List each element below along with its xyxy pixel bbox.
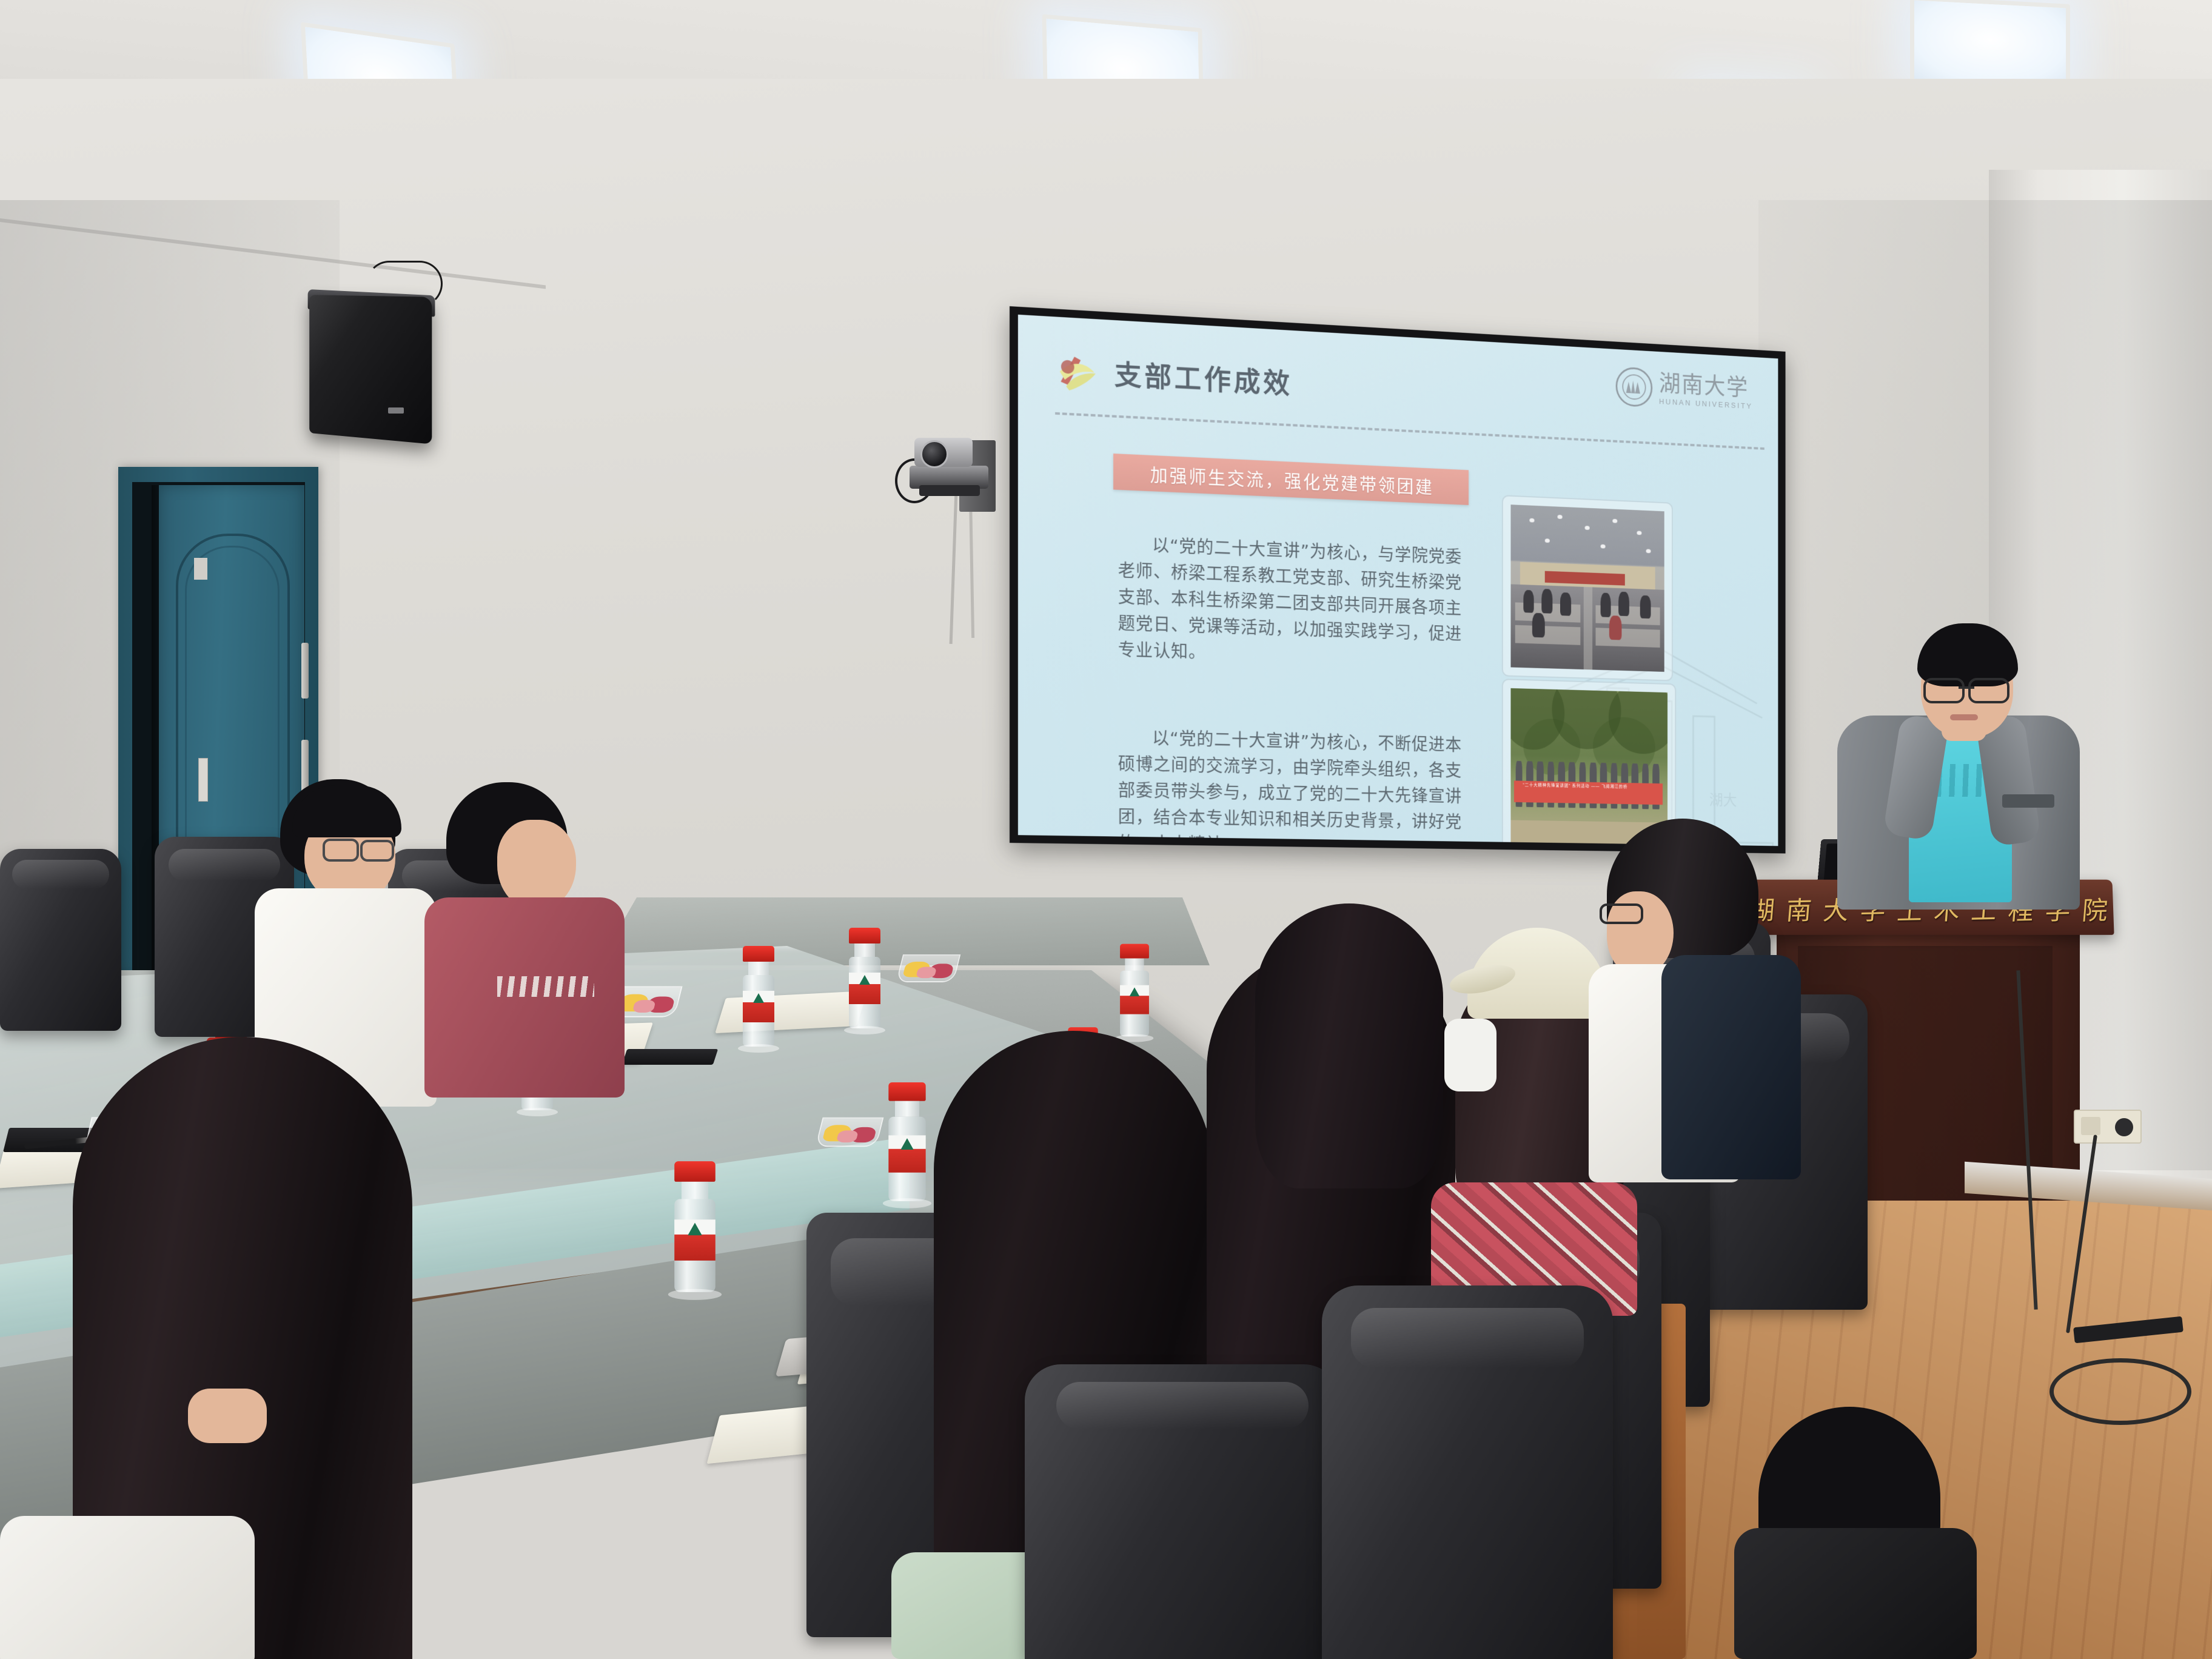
water-bottle-7 [888, 1082, 925, 1201]
attendee-1-glasses-icon [323, 839, 394, 857]
presenter-chest-pocket [2002, 794, 2054, 808]
slide-photo-1 [1510, 504, 1664, 672]
water-bottle-5 [1120, 944, 1149, 1037]
attendee-2-torso [424, 897, 625, 1098]
camera-lens-icon [920, 440, 948, 468]
fruit-bowl-3 [896, 954, 961, 982]
chair-left-3[interactable] [0, 849, 121, 1031]
door-strike-plate [194, 558, 207, 580]
slide-photo-card-1 [1502, 495, 1673, 681]
attendee-8-vest [1661, 955, 1801, 1179]
water-bottle-8 [674, 1161, 716, 1292]
speaker-badge [388, 407, 404, 414]
presenter-mouth [1950, 714, 1978, 720]
slide-paragraph-2: 以“党的二十大宣讲”为核心，不断促进本硕博之间的交流学习，由学院牵头组织，各支部… [1118, 724, 1473, 846]
projection-screen[interactable]: 湖大 支部工作成效 湖南大学 HUNAN [1010, 306, 1786, 854]
fruit-bowl-4 [816, 1118, 884, 1147]
door-hinge-top [301, 643, 309, 699]
slide-title: 支部工作成效 [1114, 353, 1293, 402]
meeting-room-scene: 湖大 支部工作成效 湖南大学 HUNAN [0, 0, 2212, 1659]
chair-foreground-2[interactable] [1322, 1285, 1613, 1659]
slide-header: 支部工作成效 湖南大学 HUNAN UNIVERSITY [1049, 346, 1762, 437]
attendee-2-shirt-print [497, 976, 594, 997]
attendee-6-hair [1255, 903, 1443, 1188]
chair-foreground-1[interactable] [1025, 1364, 1340, 1659]
attendee-7-mask [1444, 1019, 1496, 1091]
power-outlet-icon[interactable] [2074, 1110, 2142, 1144]
attendee-back-row-dark [1758, 1407, 1959, 1659]
hunan-university-seal-icon [1616, 366, 1653, 407]
hu-logo-name-cn: 湖南大学 [1659, 372, 1753, 400]
presenter-glasses-icon [1923, 678, 2009, 699]
water-bottle-2 [849, 928, 880, 1028]
slide-section-banner-text: 加强师生交流，强化党建带领团建 [1150, 460, 1434, 499]
attendee-3-hand [188, 1389, 267, 1443]
attendee-3-torso [0, 1516, 255, 1659]
attendee-back-row-long-hair [1255, 903, 1455, 1219]
outdoor-photo-banner-text: “二十大精神先锋宣讲团” 系列活动 —— 飞阅湘江的桥 [1523, 782, 1627, 790]
presenter-hair [1917, 623, 2018, 686]
wall-speaker-icon [309, 295, 432, 444]
slide-section-banner: 加强师生交流，强化党建带领团建 [1113, 454, 1469, 505]
slide-surface: 湖大 支部工作成效 湖南大学 HUNAN [1018, 315, 1778, 846]
outdoor-photo-banner: “二十大精神先锋宣讲团” 系列活动 —— 飞阅湘江的桥 [1514, 780, 1663, 805]
camera-arm [919, 485, 980, 496]
ceiling-light-3 [1910, 0, 2070, 92]
door-latch-plate [198, 758, 208, 802]
conference-hall-photo [1510, 504, 1664, 672]
attendee-9-torso [1734, 1528, 1977, 1659]
cable-coil [2049, 1358, 2191, 1425]
attendee-8-glasses-icon [1600, 903, 1643, 924]
presenter [1831, 612, 2086, 897]
attendee-navy-vest [1589, 819, 1807, 1182]
attendee-maroon-sweatshirt [424, 782, 631, 1098]
svg-text:湖大: 湖大 [1709, 792, 1737, 809]
slide-paragraph-1: 以“党的二十大宣讲”为核心，与学院党委老师、桥梁工程系教工党支部、研究生桥梁党支… [1118, 531, 1473, 673]
water-bottle-1 [743, 946, 774, 1047]
hunan-university-logo: 湖南大学 HUNAN UNIVERSITY [1616, 366, 1753, 413]
notebook-cover-1 [622, 1049, 718, 1065]
ccp-party-emblem-icon [1049, 342, 1104, 403]
attendee-long-hair-foreground-left [73, 1037, 449, 1659]
